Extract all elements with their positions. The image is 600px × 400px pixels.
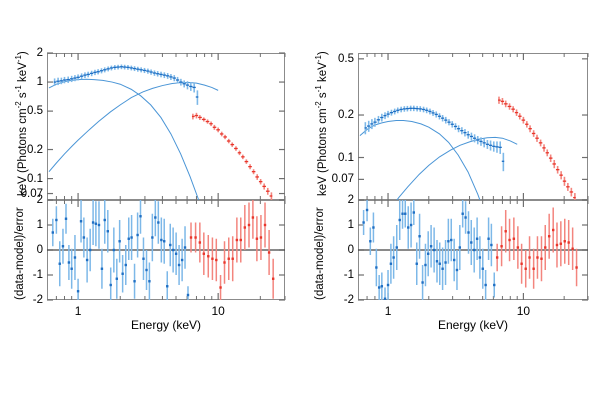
left-xtick: 1: [75, 304, 82, 318]
left-xtick: 10: [211, 304, 224, 318]
figure-canvas: keV (Photons cm-2 s-1 keV-1) (data-model…: [0, 0, 600, 400]
right-xtick: 1: [385, 304, 392, 318]
right-xtick-labels: 110: [300, 0, 600, 400]
right-xtick: 10: [517, 304, 530, 318]
right-xaxis-label: Energy (keV): [358, 318, 588, 332]
left-xaxis-label: Energy (keV): [47, 318, 285, 332]
left-xtick-labels: 110: [0, 0, 300, 400]
panel-left: keV (Photons cm-2 s-1 keV-1) (data-model…: [0, 0, 300, 400]
panel-right: keV (Photons cm-2 s-1 keV-1) (data-model…: [300, 0, 600, 400]
